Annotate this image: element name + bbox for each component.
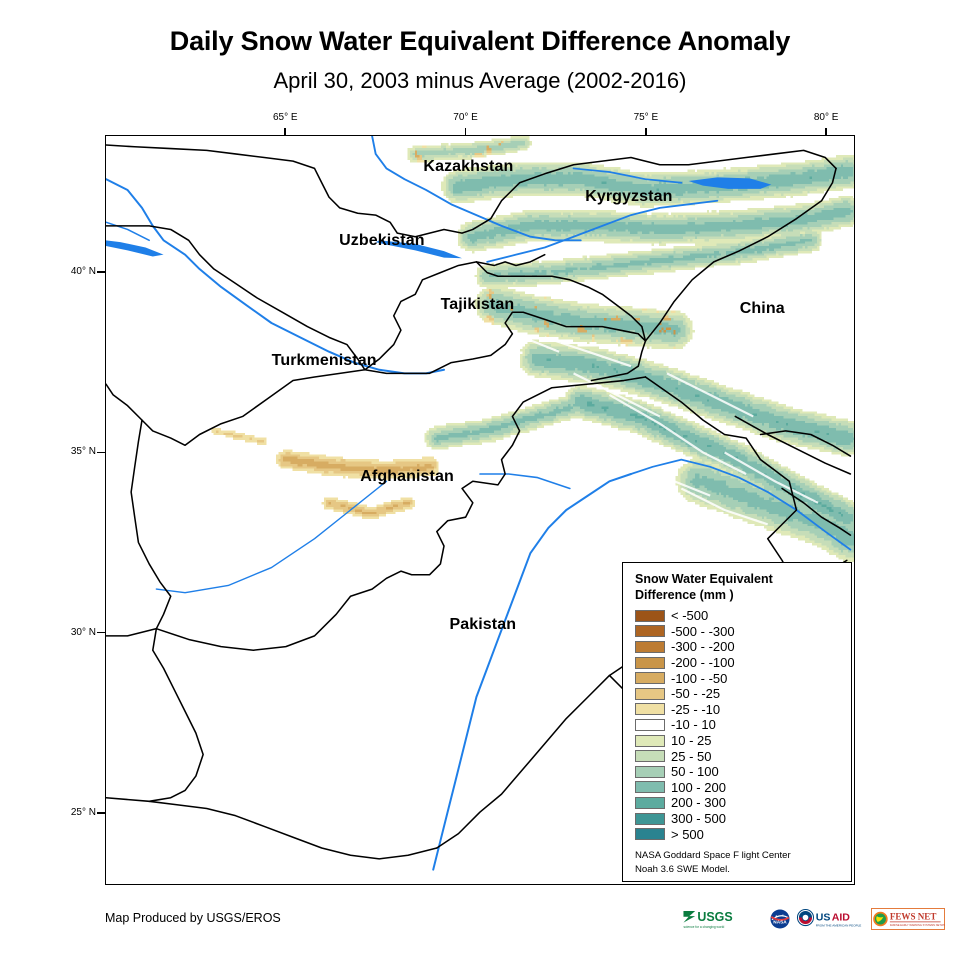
legend-swatch bbox=[635, 688, 665, 700]
lat-tick-mark bbox=[97, 452, 105, 454]
legend-label: 10 - 25 bbox=[671, 734, 711, 747]
river-helmand bbox=[156, 481, 386, 592]
svg-text:USGS: USGS bbox=[697, 910, 732, 924]
legend-panel: Snow Water Equivalent Difference (mm ) <… bbox=[622, 562, 852, 882]
country-label-turkmenistan: Turkmenistan bbox=[272, 352, 377, 370]
legend-swatch bbox=[635, 813, 665, 825]
legend-label: -50 - -25 bbox=[671, 687, 720, 700]
legend-row: 300 - 500 bbox=[635, 811, 851, 827]
legend-row: -25 - -10 bbox=[635, 702, 851, 718]
legend-swatch bbox=[635, 797, 665, 809]
legend-swatch bbox=[635, 781, 665, 793]
legend-row: 50 - 100 bbox=[635, 764, 851, 780]
swe-anomaly-raster bbox=[211, 136, 854, 562]
lon-tick-label: 70° E bbox=[436, 112, 496, 123]
country-label-kazakhstan: Kazakhstan bbox=[423, 158, 513, 176]
lake-aral-remnant bbox=[106, 237, 164, 257]
legend-label: -25 - -10 bbox=[671, 703, 720, 716]
svg-text:science for a changing world: science for a changing world bbox=[683, 925, 724, 929]
legend-row: 25 - 50 bbox=[635, 748, 851, 764]
legend-row: -10 - 10 bbox=[635, 717, 851, 733]
country-label-pakistan: Pakistan bbox=[449, 616, 516, 634]
legend-swatch bbox=[635, 766, 665, 778]
border-af-ir bbox=[131, 420, 171, 629]
legend-label: 100 - 200 bbox=[671, 781, 726, 794]
fewsnet-logo: FEWS NET FAMINE EARLY WARNING SYSTEMS NE… bbox=[871, 908, 945, 930]
legend-swatch bbox=[635, 719, 665, 731]
agency-logo-strip: USGS science for a changing world NASA U… bbox=[682, 907, 945, 931]
page-subtitle: April 30, 2003 minus Average (2002-2016) bbox=[0, 68, 960, 94]
lat-tick-label: 30° N bbox=[40, 627, 96, 638]
country-label-afghanistan: Afghanistan bbox=[360, 468, 454, 486]
lon-tick-label: 80° E bbox=[796, 112, 856, 123]
border-misc-sw bbox=[106, 629, 156, 636]
river-nw-stub bbox=[106, 222, 149, 240]
usgs-logo: USGS science for a changing world bbox=[682, 908, 764, 930]
border-pk-coast bbox=[106, 798, 437, 859]
legend-swatch bbox=[635, 641, 665, 653]
map-page: Daily Snow Water Equivalent Difference A… bbox=[0, 0, 960, 960]
legend-class-list: < -500-500 - -300-300 - -200-200 - -100-… bbox=[635, 608, 851, 842]
legend-row: 10 - 25 bbox=[635, 733, 851, 749]
legend-label: 300 - 500 bbox=[671, 812, 726, 825]
legend-row: -100 - -50 bbox=[635, 670, 851, 686]
legend-row: -50 - -25 bbox=[635, 686, 851, 702]
legend-swatch bbox=[635, 625, 665, 637]
river-kabul bbox=[480, 474, 570, 488]
country-label-kyrgyzstan: Kyrgyzstan bbox=[585, 188, 672, 206]
legend-label: 50 - 100 bbox=[671, 765, 719, 778]
country-label-china: China bbox=[740, 300, 785, 318]
lat-tick-mark bbox=[97, 812, 105, 814]
legend-source-note: NASA Goddard Space F light Center Noah 3… bbox=[635, 849, 840, 876]
lat-tick-label: 40° N bbox=[40, 266, 96, 277]
svg-text:FAMINE EARLY WARNING SYSTEMS N: FAMINE EARLY WARNING SYSTEMS NETWORK bbox=[890, 923, 945, 927]
legend-swatch bbox=[635, 657, 665, 669]
legend-label: -10 - 10 bbox=[671, 718, 716, 731]
lon-tick-label: 75° E bbox=[616, 112, 676, 123]
footer-credit: Map Produced by USGS/EROS bbox=[105, 911, 281, 925]
legend-label: -300 - -200 bbox=[671, 640, 735, 653]
svg-text:AID: AID bbox=[832, 911, 851, 923]
country-label-tajikistan: Tajikistan bbox=[441, 296, 515, 314]
legend-label: < -500 bbox=[671, 609, 708, 622]
legend-label: -100 - -50 bbox=[671, 672, 727, 685]
lat-tick-mark bbox=[97, 632, 105, 634]
svg-text:FEWS NET: FEWS NET bbox=[890, 912, 937, 922]
lat-tick-label: 35° N bbox=[40, 446, 96, 457]
legend-label: -200 - -100 bbox=[671, 656, 735, 669]
legend-title-line1: Snow Water Equivalent bbox=[635, 571, 835, 587]
page-title: Daily Snow Water Equivalent Difference A… bbox=[0, 26, 960, 57]
legend-row: 100 - 200 bbox=[635, 780, 851, 796]
country-label-uzbekistan: Uzbekistan bbox=[339, 232, 424, 250]
svg-text:US: US bbox=[816, 911, 831, 923]
river-indus bbox=[433, 474, 631, 870]
legend-label: 25 - 50 bbox=[671, 750, 711, 763]
border-pk-ir bbox=[149, 629, 203, 802]
legend-source-line1: NASA Goddard Space F light Center bbox=[635, 849, 840, 863]
legend-title: Snow Water Equivalent Difference (mm ) bbox=[635, 571, 835, 603]
legend-swatch bbox=[635, 735, 665, 747]
legend-swatch bbox=[635, 703, 665, 715]
lat-tick-label: 25° N bbox=[40, 807, 96, 818]
legend-row: -200 - -100 bbox=[635, 655, 851, 671]
legend-row: < -500 bbox=[635, 608, 851, 624]
nasa-logo: NASA bbox=[769, 908, 791, 930]
lon-tick-label: 65° E bbox=[255, 112, 315, 123]
legend-label: 200 - 300 bbox=[671, 796, 726, 809]
lat-tick-mark bbox=[97, 271, 105, 273]
legend-label: > 500 bbox=[671, 828, 704, 841]
legend-row: 200 - 300 bbox=[635, 795, 851, 811]
legend-swatch bbox=[635, 828, 665, 840]
legend-label: -500 - -300 bbox=[671, 625, 735, 638]
legend-source-line2: Noah 3.6 SWE Model. bbox=[635, 863, 840, 877]
legend-row: -500 - -300 bbox=[635, 624, 851, 640]
legend-row: -300 - -200 bbox=[635, 639, 851, 655]
legend-row: > 500 bbox=[635, 826, 851, 842]
legend-swatch bbox=[635, 750, 665, 762]
svg-text:FROM THE AMERICAN PEOPLE: FROM THE AMERICAN PEOPLE bbox=[816, 923, 862, 927]
svg-text:NASA: NASA bbox=[773, 919, 787, 925]
legend-title-line2: Difference (mm ) bbox=[635, 587, 835, 603]
legend-swatch bbox=[635, 672, 665, 684]
usaid-logo: US AID FROM THE AMERICAN PEOPLE bbox=[796, 908, 866, 930]
legend-swatch bbox=[635, 610, 665, 622]
